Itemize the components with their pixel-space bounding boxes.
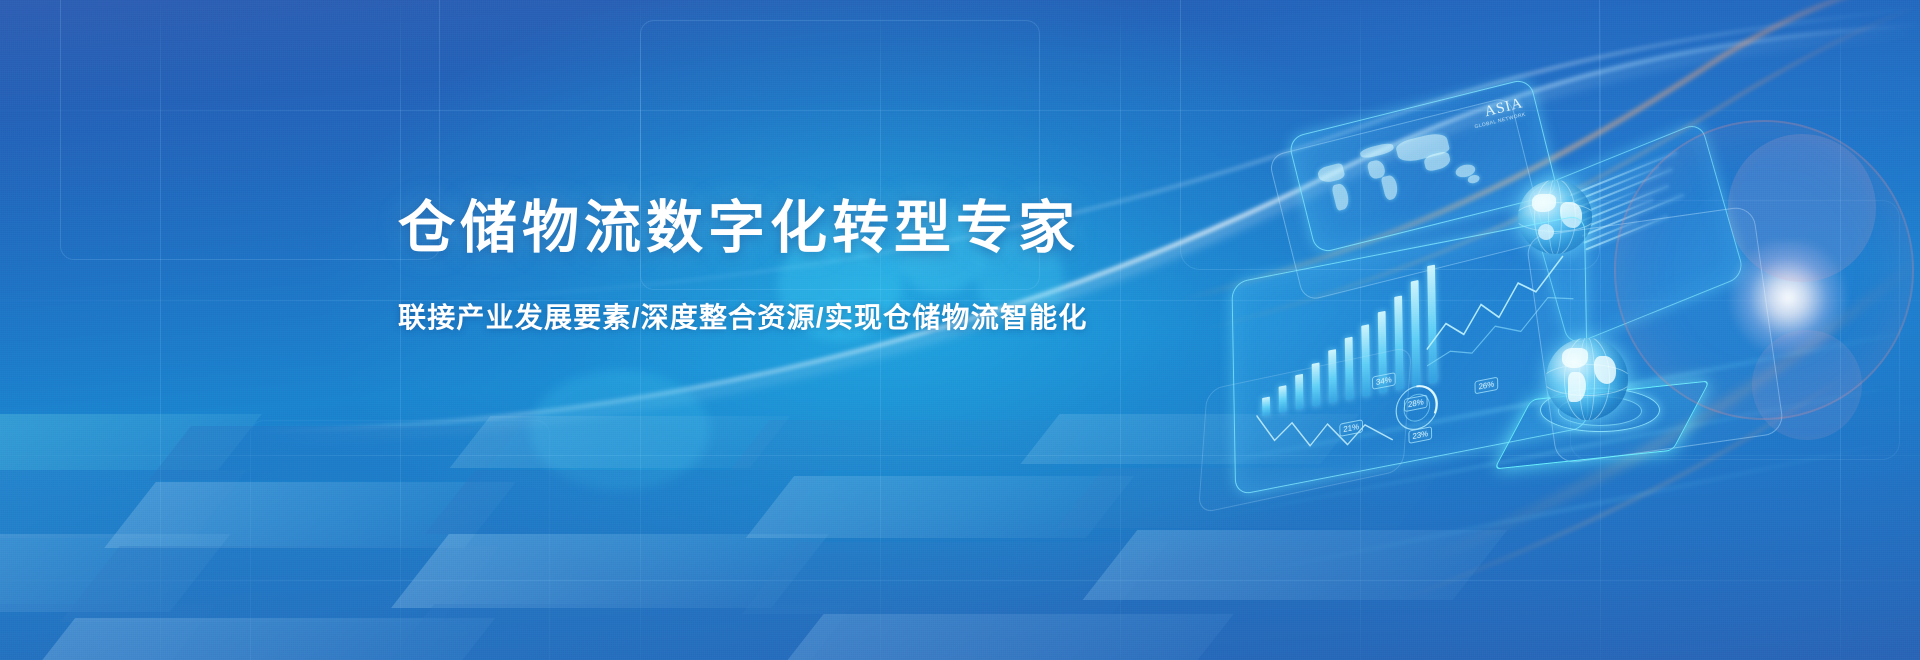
asia-label: ASIA GLOBAL NETWORK [1470,95,1526,130]
holographic-graphic: ASIA GLOBAL NETWORK [1240,70,1920,500]
world-map-graphic [1306,107,1501,234]
page-subtitle: 联接产业发展要素/深度整合资源/实现仓储物流智能化 [398,296,1218,336]
page-title: 仓储物流数字化转型专家 [398,196,1218,262]
globe-lower-right-icon [1546,338,1628,420]
hero-banner: ASIA GLOBAL NETWORK [0,0,1920,660]
percent-label: 26% [1474,377,1498,395]
hero-copy: 仓储物流数字化转型专家 联接产业发展要素/深度整合资源/实现仓储物流智能化 [398,196,1218,336]
